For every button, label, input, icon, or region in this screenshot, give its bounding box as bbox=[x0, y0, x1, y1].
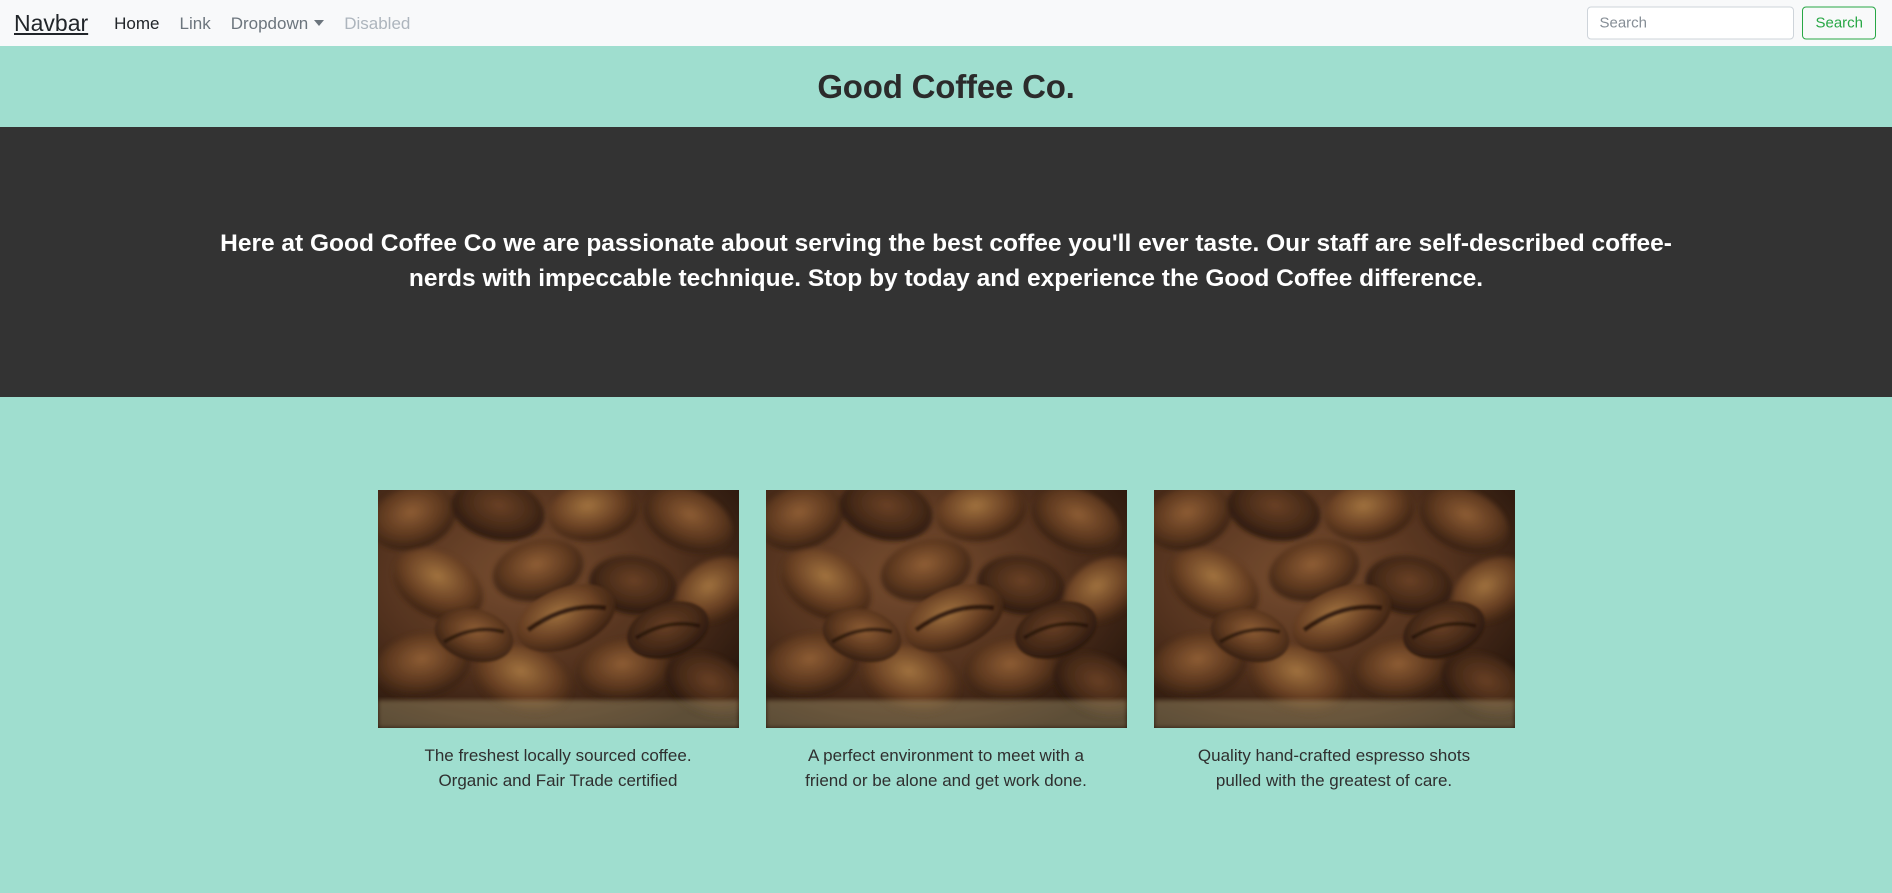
feature-card-caption: Quality hand-crafted espresso shots pull… bbox=[1198, 744, 1470, 793]
nav-list: Home Link Dropdown Disabled bbox=[104, 15, 420, 32]
site-header: Good Coffee Co. bbox=[0, 46, 1892, 127]
feature-card-caption: A perfect environment to meet with a fri… bbox=[805, 744, 1087, 793]
navbar-search-form: Search bbox=[1587, 7, 1876, 40]
intro-banner: Here at Good Coffee Co we are passionate… bbox=[0, 127, 1892, 397]
feature-card-2: A perfect environment to meet with a fri… bbox=[766, 490, 1127, 793]
nav-link-dropdown[interactable]: Dropdown bbox=[221, 15, 335, 32]
coffee-beans-image-1 bbox=[378, 490, 739, 728]
feature-card-3: Quality hand-crafted espresso shots pull… bbox=[1154, 490, 1515, 793]
navbar: Navbar Home Link Dropdown Disabled Searc… bbox=[0, 0, 1892, 46]
nav-link-link[interactable]: Link bbox=[170, 15, 221, 32]
navbar-brand[interactable]: Navbar bbox=[14, 12, 88, 35]
coffee-beans-image-2 bbox=[766, 490, 1127, 728]
nav-link-disabled: Disabled bbox=[334, 15, 420, 32]
chevron-down-icon bbox=[314, 20, 324, 26]
nav-item-link: Link bbox=[170, 15, 221, 32]
nav-link-dropdown-label: Dropdown bbox=[231, 15, 309, 32]
nav-item-disabled: Disabled bbox=[334, 15, 420, 32]
features-section: The freshest locally sourced coffee. Org… bbox=[0, 397, 1892, 893]
nav-item-home: Home bbox=[104, 15, 169, 32]
search-input[interactable] bbox=[1587, 7, 1794, 40]
page-title: Good Coffee Co. bbox=[817, 70, 1074, 103]
coffee-beans-image-3 bbox=[1154, 490, 1515, 728]
nav-item-dropdown: Dropdown bbox=[221, 15, 335, 32]
nav-link-home[interactable]: Home bbox=[104, 15, 169, 32]
feature-card-1: The freshest locally sourced coffee. Org… bbox=[378, 490, 739, 793]
features-row: The freshest locally sourced coffee. Org… bbox=[0, 490, 1892, 793]
feature-card-caption: The freshest locally sourced coffee. Org… bbox=[424, 744, 691, 793]
search-button[interactable]: Search bbox=[1802, 7, 1876, 40]
intro-banner-text: Here at Good Coffee Co we are passionate… bbox=[200, 227, 1692, 297]
